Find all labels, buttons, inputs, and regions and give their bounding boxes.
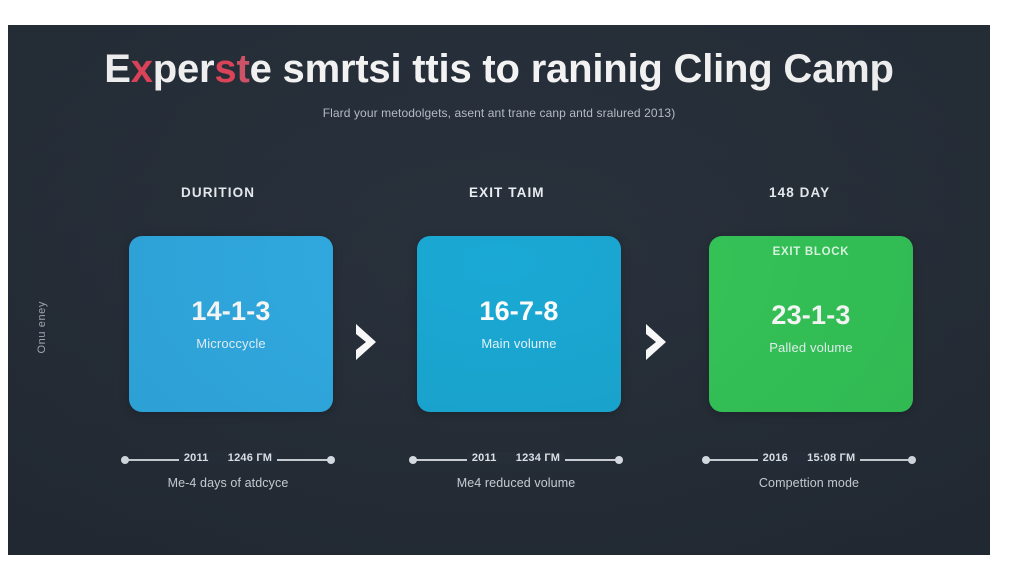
infographic-panel: Onu eney Experste smrtsi ttis to raninig… [8,25,990,555]
title-segment-4: s [214,47,236,91]
measure-bar-3-spacer [793,452,802,464]
column-heading-3: 148 DAY [699,185,939,207]
column-duration: DURITION 14-1-3 Microccycle [121,185,361,412]
title-segment-5: t [236,47,249,91]
measure-bar-2: 2011 1234 ГM Me4 reduced volume [409,453,623,490]
phase-card-2[interactable]: 16-7-8 Main volume [417,236,621,412]
chevron-right-icon-2 [639,320,673,364]
measure-bar-2-spacer [502,452,511,464]
phase-card-2-label: Main volume [481,336,556,351]
header: Experste smrtsi ttis to raninig Cling Ca… [8,25,990,120]
measure-bar-2-labels: 2011 1234 ГM [409,452,623,464]
column-heading-1: DURITION [121,185,361,207]
measure-bar-1: 2011 1246 ГM Me-4 days of atdcyce [121,453,335,490]
measure-bar-1-left-value: 2011 [179,452,214,464]
columns-container: DURITION 14-1-3 Microccycle EXIT TAIM 16… [8,185,990,525]
measure-bar-2-line: 2011 1234 ГM [409,453,623,467]
phase-card-3-label: Palled volume [769,340,853,355]
title-segment-3: per [153,47,215,91]
phase-card-3-value: 23-1-3 [771,302,850,329]
exit-block-badge: EXIT BLOCK [709,246,913,258]
column-exit-taim: EXIT TAIM 16-7-8 Main volume [409,185,649,412]
measure-bar-3-line: 2016 15:08 ГM [702,453,916,467]
title-segment-6: e smrtsi ttis to raninig Cling Camp [250,47,894,91]
chevron-right-icon-1 [349,320,383,364]
measure-bar-1-spacer [214,452,223,464]
measure-bar-3-right-value: 15:08 ГM [802,452,860,464]
phase-card-1-value: 14-1-3 [191,298,270,325]
page-title: Experste smrtsi ttis to raninig Cling Ca… [8,25,990,92]
phase-card-2-value: 16-7-8 [479,298,558,325]
measure-bar-3-labels: 2016 15:08 ГM [702,452,916,464]
measure-bar-2-caption: Me4 reduced volume [409,476,623,490]
title-segment-1: E [104,47,130,91]
measure-bar-1-labels: 2011 1246 ГM [121,452,335,464]
measure-bar-1-line: 2011 1246 ГM [121,453,335,467]
phase-card-3[interactable]: EXIT BLOCK 23-1-3 Palled volume [709,236,913,412]
measure-bar-2-left-value: 2011 [467,452,502,464]
measure-bar-1-right-value: 1246 ГM [223,452,277,464]
page-subtitle: Flard your metodolgets, asent ant trane … [8,92,990,120]
measure-bar-3-caption: Compettion mode [702,476,916,490]
measure-bar-1-caption: Me-4 days of atdcyce [121,476,335,490]
column-heading-2: EXIT TAIM [409,185,649,207]
screenshot-stage: Onu eney Experste smrtsi ttis to raninig… [0,0,1024,585]
phase-card-1[interactable]: 14-1-3 Microccycle [129,236,333,412]
title-segment-2: x [131,47,153,91]
column-148-day: 148 DAY EXIT BLOCK 23-1-3 Palled volume [699,185,939,412]
measure-bar-3-left-value: 2016 [758,452,793,464]
measure-bar-2-right-value: 1234 ГM [511,452,565,464]
measure-bar-3: 2016 15:08 ГM Compettion mode [702,453,916,490]
phase-card-1-label: Microccycle [196,336,266,351]
